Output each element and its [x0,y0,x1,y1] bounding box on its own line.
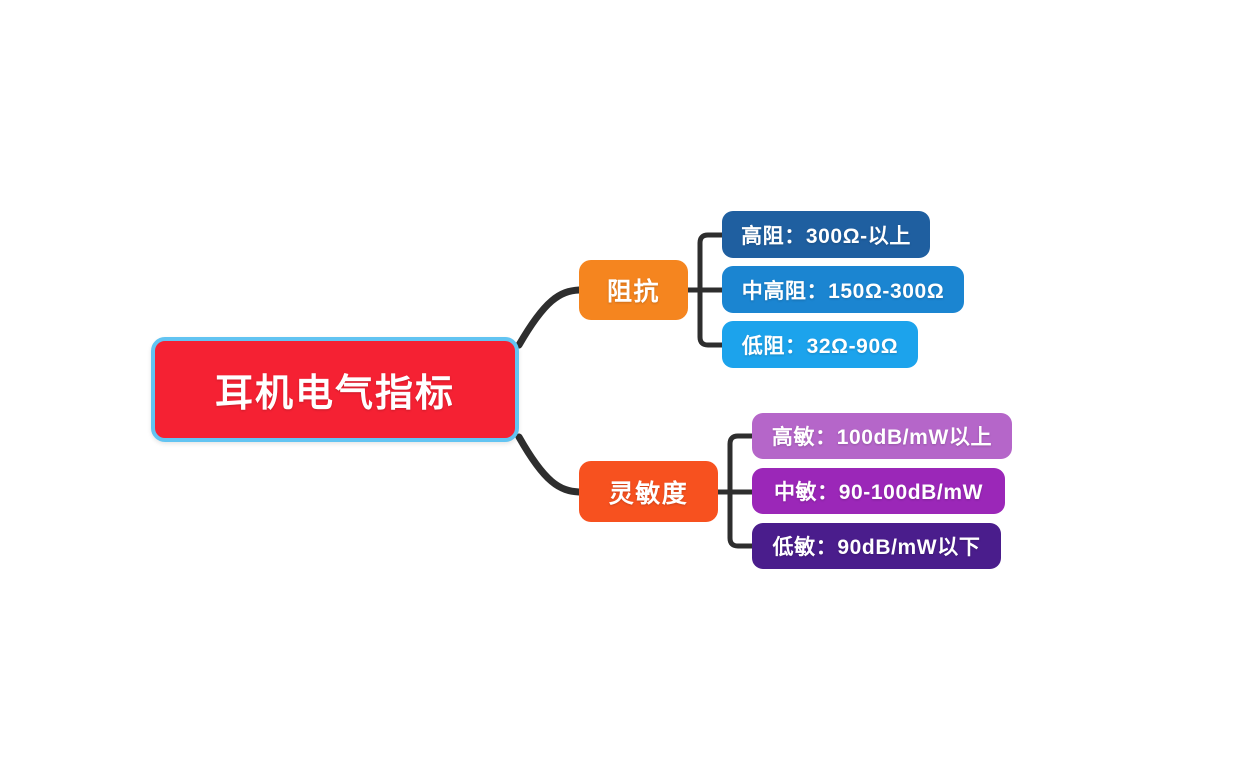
root-node-headphone-electrical-specs[interactable]: 耳机电气指标 [151,337,519,442]
connector-sensitivity-bracket [718,436,752,546]
connector-root-to-impedance [519,290,579,345]
leaf-node-impedance-high[interactable]: 高阻：300Ω-以上 [722,211,930,258]
branch-node-sensitivity[interactable]: 灵敏度 [579,461,718,522]
connector-impedance-bracket [688,235,722,345]
leaf-node-impedance-medium-high[interactable]: 中高阻：150Ω-300Ω [722,266,964,313]
leaf-node-sensitivity-low[interactable]: 低敏：90dB/mW以下 [752,523,1001,569]
connector-root-to-sensitivity [519,437,579,492]
branch-node-impedance[interactable]: 阻抗 [579,260,688,320]
leaf-node-sensitivity-medium[interactable]: 中敏：90-100dB/mW [752,468,1005,514]
leaf-node-impedance-low[interactable]: 低阻：32Ω-90Ω [722,321,918,368]
leaf-node-sensitivity-high[interactable]: 高敏：100dB/mW以上 [752,413,1012,459]
mind-map-canvas: 耳机电气指标 阻抗 灵敏度 高阻：300Ω-以上 中高阻：150Ω-300Ω 低… [0,0,1237,763]
